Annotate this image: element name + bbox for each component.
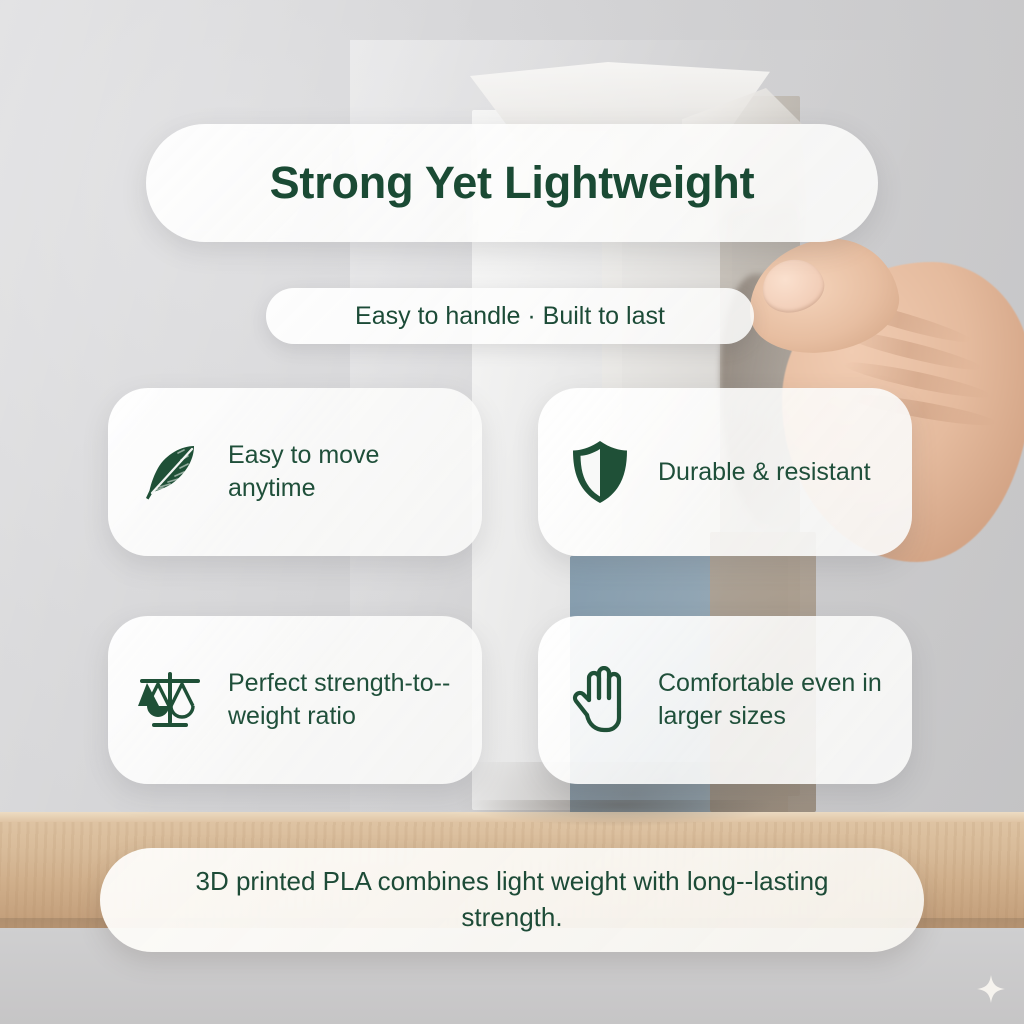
shield-icon xyxy=(564,436,636,508)
feature-card-label: Easy to move anytime xyxy=(228,439,456,505)
feature-card-label: Perfect strength-to--weight ratio xyxy=(228,667,456,733)
sparkle-icon xyxy=(976,974,1006,1004)
feather-icon xyxy=(134,436,206,508)
page-title: Strong Yet Lightweight xyxy=(270,157,755,209)
feature-card-easy-to-move[interactable]: Easy to move anytime xyxy=(108,388,482,556)
page-subtitle: Easy to handle · Built to last xyxy=(355,302,665,331)
feature-card-comfortable[interactable]: Comfortable even in larger sizes xyxy=(538,616,912,784)
footer-pill: 3D printed PLA combines light weight wit… xyxy=(100,848,924,952)
title-pill: Strong Yet Lightweight xyxy=(146,124,878,242)
feature-card-durable[interactable]: Durable & resistant xyxy=(538,388,912,556)
object-contact-shadow xyxy=(470,800,770,826)
feature-card-label: Comfortable even in larger sizes xyxy=(658,667,886,733)
open-hand-icon xyxy=(564,664,636,736)
subtitle-pill: Easy to handle · Built to last xyxy=(266,288,754,344)
poster-canvas: Strong Yet Lightweight Easy to handle · … xyxy=(0,0,1024,1024)
balance-scale-icon xyxy=(134,664,206,736)
footer-text: 3D printed PLA combines light weight wit… xyxy=(162,864,862,936)
feature-card-strength-ratio[interactable]: Perfect strength-to--weight ratio xyxy=(108,616,482,784)
feature-card-label: Durable & resistant xyxy=(658,456,871,489)
